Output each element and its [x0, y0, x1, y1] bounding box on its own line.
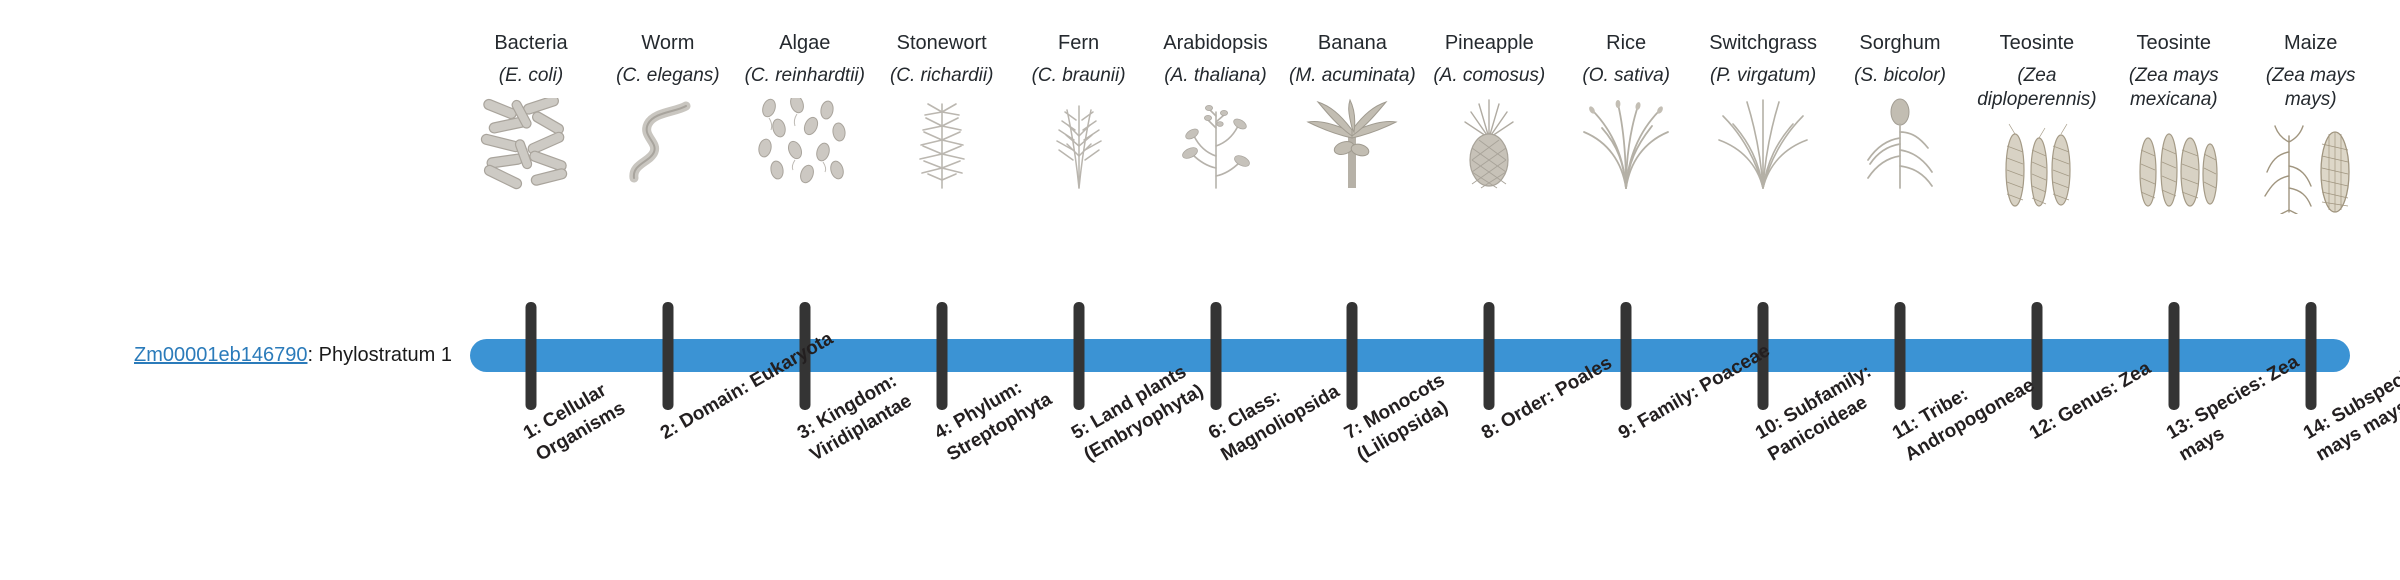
label-separator: :	[307, 344, 318, 366]
species-scientific-name: (S. bicolor)	[1825, 64, 1975, 88]
species-scientific-name: (C. richardii)	[867, 64, 1017, 88]
gene-id-link[interactable]: Zm00001eb146790	[134, 344, 307, 366]
rice-icon	[1551, 94, 1701, 190]
phylostratum-value: Phylostratum 1	[319, 344, 452, 366]
phylostratum-name: Cellular Organisms	[533, 380, 629, 466]
species-column-11: Sorghum(S. bicolor)	[1825, 30, 1975, 190]
species-common-name: Worm	[593, 30, 743, 56]
species-common-name: Arabidopsis	[1141, 30, 1291, 56]
species-scientific-name: (M. acuminata)	[1277, 64, 1427, 88]
phylostratum-name: Tribe: Andropogoneae	[1902, 375, 2039, 466]
species-column-1: Bacteria(E. coli)	[456, 30, 606, 190]
species-common-name: Rice	[1551, 30, 1701, 56]
phylostratum-number: 5:	[1068, 417, 1093, 444]
algae-icon	[730, 94, 880, 190]
species-scientific-name: (Zea diploperennis)	[1962, 64, 2112, 112]
species-column-14: Maize(Zea mays mays)	[2236, 30, 2386, 214]
species-column-5: Fern(C. braunii)	[1004, 30, 1154, 190]
arabidopsis-icon	[1141, 94, 1291, 190]
maize-icon	[2236, 118, 2386, 214]
species-scientific-name: (A. comosus)	[1414, 64, 1564, 88]
species-column-12: Teosinte(Zea diploperennis)	[1962, 30, 2112, 214]
species-column-13: Teosinte(Zea mays mexicana)	[2099, 30, 2249, 214]
phylostratum-number: 2:	[657, 417, 682, 444]
species-common-name: Stonewort	[867, 30, 1017, 56]
phylostratum-track: Bacteria(E. coli) Worm(C. elegans) Algae…	[470, 0, 2350, 580]
species-scientific-name: (C. elegans)	[593, 64, 743, 88]
phylostratum-number: 1:	[520, 417, 545, 444]
species-common-name: Pineapple	[1414, 30, 1564, 56]
teosinte-mexicana-icon	[2099, 118, 2249, 214]
pineapple-icon	[1414, 94, 1564, 190]
species-column-9: Rice(O. sativa)	[1551, 30, 1701, 190]
banana-icon	[1277, 94, 1427, 190]
stonewort-icon	[867, 94, 1017, 190]
phylostratum-number: 3:	[794, 417, 819, 444]
species-scientific-name: (P. virgatum)	[1688, 64, 1838, 88]
phylostratum-number: 7:	[1341, 417, 1366, 444]
tick-mark-1[interactable]	[526, 302, 537, 410]
species-column-10: Switchgrass(P. virgatum)	[1688, 30, 1838, 190]
species-column-7: Banana(M. acuminata)	[1277, 30, 1427, 190]
fern-icon	[1004, 94, 1154, 190]
phylostratum-name: Phylum: Streptophyta	[943, 377, 1055, 465]
species-common-name: Teosinte	[1962, 30, 2112, 56]
phylostratum-number: 9:	[1615, 417, 1640, 444]
species-column-4: Stonewort(C. richardii)	[867, 30, 1017, 190]
species-column-6: Arabidopsis(A. thaliana)	[1141, 30, 1291, 190]
species-common-name: Switchgrass	[1688, 30, 1838, 56]
species-column-3: Algae(C. reinhardtii)	[730, 30, 880, 190]
phylostratum-number: 4:	[931, 417, 956, 444]
bacteria-icon	[456, 94, 606, 190]
species-common-name: Banana	[1277, 30, 1427, 56]
species-scientific-name: (A. thaliana)	[1141, 64, 1291, 88]
species-common-name: Teosinte	[2099, 30, 2249, 56]
phylostratum-number: 12:	[2026, 412, 2060, 444]
sorghum-icon	[1825, 94, 1975, 190]
species-scientific-name: (O. sativa)	[1551, 64, 1701, 88]
phylostratum-name: Subfamily: Panicoideae	[1765, 361, 1875, 466]
species-column-8: Pineapple(A. comosus)	[1414, 30, 1564, 190]
worm-icon	[593, 94, 743, 190]
species-common-name: Maize	[2236, 30, 2386, 56]
phylostratum-number: 8:	[1478, 417, 1503, 444]
phylostratum-name: Kingdom: Viridiplantae	[806, 370, 915, 465]
switchgrass-icon	[1688, 94, 1838, 190]
species-column-2: Worm(C. elegans)	[593, 30, 743, 190]
species-scientific-name: (C. braunii)	[1004, 64, 1154, 88]
phylostratum-name: Class: Magnoliopsida	[1217, 381, 1343, 466]
teosinte-diploperennis-icon	[1962, 118, 2112, 214]
species-scientific-name: (Zea mays mexicana)	[2099, 64, 2249, 112]
phylostratum-number: 6:	[1205, 417, 1230, 444]
species-scientific-name: (C. reinhardtii)	[730, 64, 880, 88]
species-common-name: Fern	[1004, 30, 1154, 56]
species-common-name: Algae	[730, 30, 880, 56]
species-common-name: Sorghum	[1825, 30, 1975, 56]
phylostratum-row-label: Zm00001eb146790: Phylostratum 1	[0, 343, 452, 367]
species-common-name: Bacteria	[456, 30, 606, 56]
species-scientific-name: (Zea mays mays)	[2236, 64, 2386, 112]
species-scientific-name: (E. coli)	[456, 64, 606, 88]
